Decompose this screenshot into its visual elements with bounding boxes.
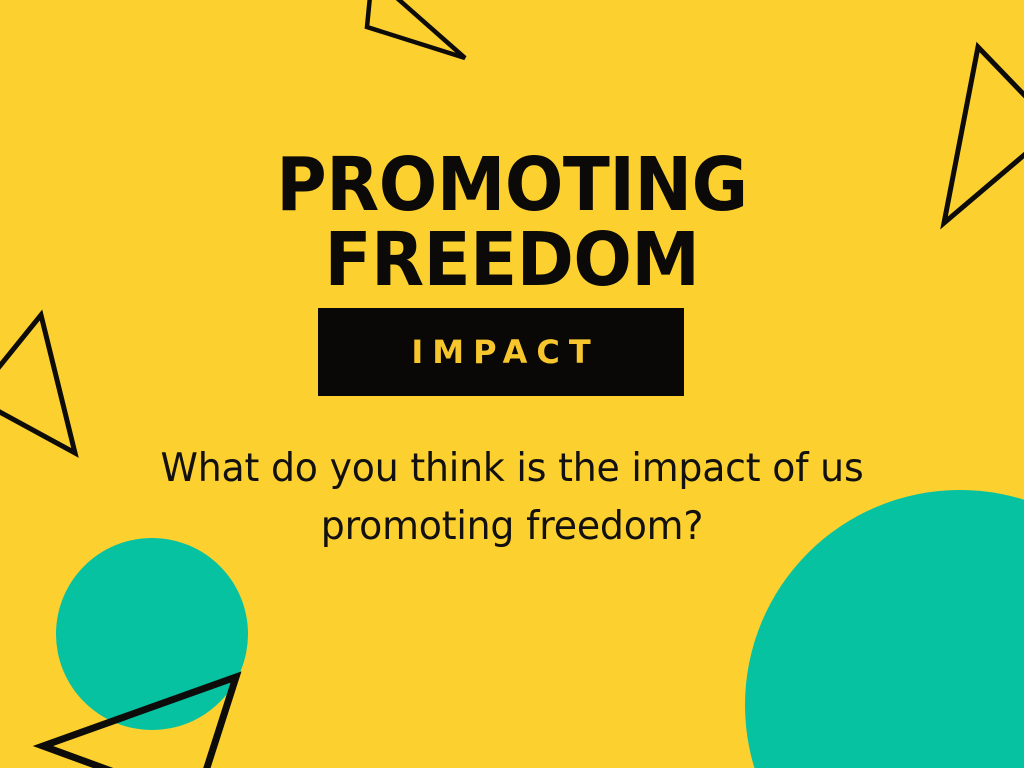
slide-title: PROMOTING FREEDOM	[0, 148, 1024, 298]
slide-content: PROMOTING FREEDOM IMPACT What do you thi…	[0, 0, 1024, 768]
slide-canvas: PROMOTING FREEDOM IMPACT What do you thi…	[0, 0, 1024, 768]
slide-question-line-1: What do you think is the impact of us	[85, 440, 939, 498]
slide-question: What do you think is the impact of us pr…	[72, 440, 952, 556]
impact-banner: IMPACT	[318, 308, 684, 396]
impact-banner-label: IMPACT	[402, 333, 599, 371]
slide-title-line-1: PROMOTING	[36, 148, 988, 223]
slide-question-line-2: promoting freedom?	[85, 498, 939, 556]
slide-title-line-2: FREEDOM	[36, 223, 988, 298]
